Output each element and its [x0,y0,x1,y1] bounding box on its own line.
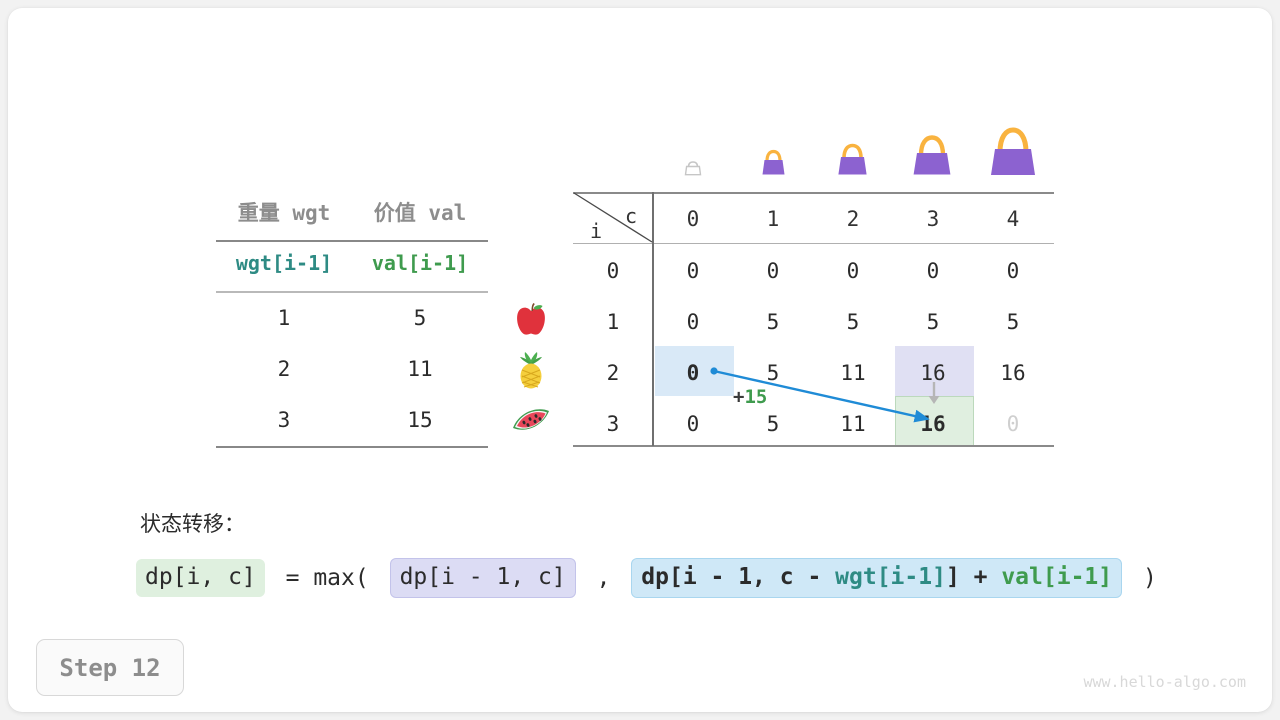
matrix-col-header-0: 0 [653,209,733,230]
items-header-wgt: 重量 wgt [216,197,352,227]
matrix-cell-2-0: 0 [653,363,733,384]
matrix-cell-1-1: 5 [733,312,813,333]
items-row-1: 1 5 [216,298,488,338]
items-row-2-wgt: 2 [216,357,352,381]
matrix-cell-1-4: 5 [973,312,1053,333]
items-table-header: 重量 wgt 价值 val [216,192,488,232]
items-row-2: 2 11 [216,349,488,389]
formula-opt2-val: val[i-1] [1001,564,1112,590]
formula-opt2-prefix: dp[i - 1, c - [641,564,835,590]
items-row-3-wgt: 3 [216,408,352,432]
bag-size-4-icon [984,123,1042,178]
items-row-2-val: 11 [352,357,488,381]
formula-eq: = max( [265,565,390,591]
matrix-cell-3-3: 16 [893,414,973,435]
matrix-cell-0-4: 0 [973,261,1053,282]
matrix-row-label-2: 2 [591,363,635,384]
bag-size-1-icon [758,145,789,177]
matrix-corner-label-i: i [590,221,602,241]
matrix-cell-1-2: 5 [813,312,893,333]
apple-icon [508,302,554,344]
gain-annotation: +15 [733,388,767,407]
matrix-border-bottom [573,445,1054,447]
matrix-corner-label-c: c [625,206,637,226]
items-subheader-val: val[i-1] [352,251,488,275]
matrix-cell-1-0: 0 [653,312,733,333]
matrix-cell-3-2: 11 [813,414,893,435]
transition-formula: dp[i, c] = max( dp[i - 1, c] , dp[i - 1,… [136,558,1164,598]
items-rule-top [216,240,488,242]
bag-size-2-icon [834,139,871,177]
watermark: www.hello-algo.com [1083,673,1246,691]
items-table-subheader: wgt[i-1] val[i-1] [216,243,488,283]
down-arrow-icon [925,380,943,408]
formula-close: ) [1122,565,1164,591]
formula-lhs: dp[i, c] [136,559,265,597]
matrix-col-header-3: 3 [893,209,973,230]
matrix-cell-0-1: 0 [733,261,813,282]
matrix-cell-0-2: 0 [813,261,893,282]
matrix-cell-3-4: 0 [973,414,1053,435]
watermelon-icon [508,404,554,444]
matrix-row-label-3: 3 [591,414,635,435]
formula-opt2: dp[i - 1, c - wgt[i-1]] + val[i-1] [631,558,1122,598]
items-rule-mid [216,291,488,293]
formula-opt1: dp[i - 1, c] [390,558,576,598]
items-row-3: 3 15 [216,400,488,440]
items-subheader-wgt: wgt[i-1] [216,251,352,275]
slide-canvas: 重量 wgt 价值 val wgt[i-1] val[i-1] 1 5 2 11… [0,0,1280,720]
matrix-cell-2-2: 11 [813,363,893,384]
items-row-3-val: 15 [352,408,488,432]
matrix-col-header-4: 4 [973,209,1053,230]
items-header-val: 价值 val [352,197,488,227]
matrix-cell-2-4: 16 [973,363,1053,384]
matrix-cell-2-1: 5 [733,363,813,384]
bag-size-3-icon [908,131,956,177]
pineapple-icon [508,351,554,395]
step-badge: Step 12 [36,639,184,696]
formula-sep: , [576,565,632,591]
matrix-cell-1-3: 5 [893,312,973,333]
gain-value: 15 [744,386,767,408]
formula-opt2-wgt: wgt[i-1] [835,564,946,590]
items-rule-bottom [216,446,488,448]
matrix-row-label-0: 0 [591,261,635,282]
slide-card [8,8,1272,712]
formula-opt2-mid: ] + [946,564,1001,590]
matrix-cell-0-3: 0 [893,261,973,282]
matrix-cell-3-0: 0 [653,414,733,435]
matrix-cell-0-0: 0 [653,261,733,282]
transition-caption: 状态转移： [140,508,245,538]
matrix-corner-diagonal [573,192,654,244]
items-row-1-wgt: 1 [216,306,352,330]
matrix-cell-3-1: 5 [733,414,813,435]
bag-size-0-icon [681,157,705,179]
items-row-1-val: 5 [352,306,488,330]
gain-sign: + [733,386,744,408]
matrix-col-header-2: 2 [813,209,893,230]
matrix-row-label-1: 1 [591,312,635,333]
matrix-col-header-1: 1 [733,209,813,230]
